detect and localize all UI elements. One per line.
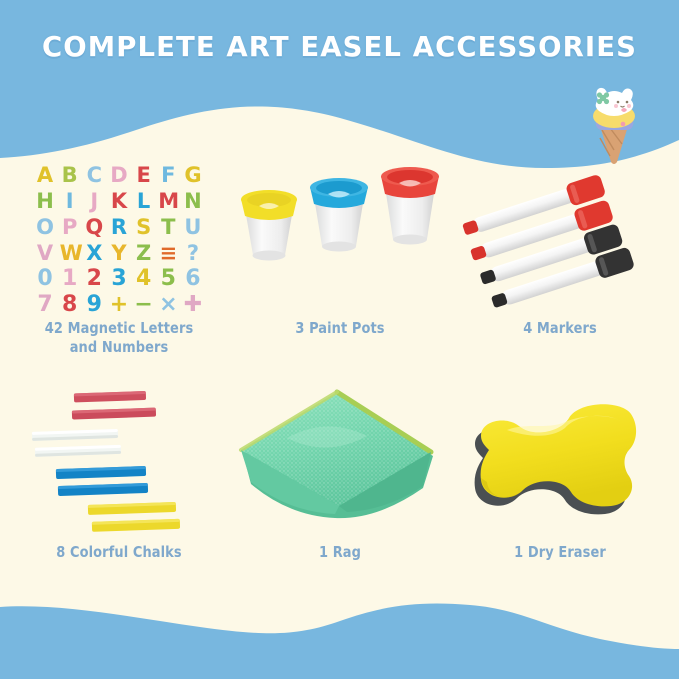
number-tile: 6 bbox=[183, 268, 203, 290]
markers-illustration bbox=[447, 154, 673, 319]
chalk-red-1 bbox=[74, 391, 146, 403]
multiply-tile: × bbox=[158, 294, 178, 316]
paint-pot-red bbox=[381, 167, 439, 245]
chalk-blue-1 bbox=[56, 466, 146, 479]
letter-tile: C bbox=[84, 164, 104, 186]
item-markers: 4 Markers bbox=[447, 154, 673, 338]
letter-tile: N bbox=[183, 190, 203, 212]
letters-grid: A B C D E F G H I J K L M bbox=[35, 162, 203, 318]
letters-row-2: H I J K L M N bbox=[35, 188, 203, 212]
minus-tile: − bbox=[134, 294, 154, 316]
caption-line-1: 3 Paint Pots bbox=[235, 319, 445, 338]
letters-row-6: 7 8 9 + − × ✚ bbox=[35, 292, 203, 316]
letter-tile: F bbox=[158, 164, 178, 186]
magnetic-letters-image: A B C D E F G H I J K L M bbox=[6, 154, 232, 319]
letter-tile: K bbox=[109, 190, 129, 212]
number-tile: 2 bbox=[84, 268, 104, 290]
items-grid: A B C D E F G H I J K L M bbox=[0, 150, 679, 610]
number-tile: 5 bbox=[158, 268, 178, 290]
item-caption: 42 Magnetic Letters and Numbers bbox=[14, 319, 224, 357]
letter-tile: Z bbox=[134, 242, 154, 264]
item-caption: 1 Rag bbox=[235, 543, 445, 562]
chalks-illustration bbox=[6, 378, 232, 543]
caption-line-2: and Numbers bbox=[14, 338, 224, 357]
letter-tile: W bbox=[60, 242, 80, 264]
number-tile: 0 bbox=[35, 268, 55, 290]
letters-row-3: O P Q R S T U bbox=[35, 214, 203, 238]
letters-row-1: A B C D E F G bbox=[35, 162, 203, 186]
item-caption: 3 Paint Pots bbox=[235, 319, 445, 338]
item-caption: 8 Colorful Chalks bbox=[14, 543, 224, 562]
caption-line-1: 8 Colorful Chalks bbox=[14, 543, 224, 562]
letter-tile: Y bbox=[109, 242, 129, 264]
paint-pots-illustration bbox=[227, 154, 453, 319]
number-tile: 3 bbox=[109, 268, 129, 290]
caption-line-1: 1 Dry Eraser bbox=[455, 543, 665, 562]
letter-tile: B bbox=[60, 164, 80, 186]
letter-tile: A bbox=[35, 164, 55, 186]
letters-row-5: 0 1 2 3 4 5 6 bbox=[35, 266, 203, 290]
dry-eraser-image bbox=[447, 378, 673, 543]
item-paint-pots: 3 Paint Pots bbox=[227, 154, 453, 338]
letter-tile: O bbox=[35, 216, 55, 238]
letter-tile: L bbox=[134, 190, 154, 212]
paint-pot-yellow bbox=[241, 190, 297, 261]
footer-band bbox=[0, 569, 679, 679]
chalk-white-1 bbox=[32, 429, 118, 441]
caption-line-1: 4 Markers bbox=[455, 319, 665, 338]
letter-tile: D bbox=[109, 164, 129, 186]
divide-tile: ✚ bbox=[183, 294, 203, 316]
number-tile: 8 bbox=[60, 294, 80, 316]
letter-tile: X bbox=[84, 242, 104, 264]
chalk-white-2 bbox=[35, 445, 121, 457]
chalk-red-2 bbox=[72, 408, 156, 420]
rag-image bbox=[227, 378, 453, 543]
letters-row-4: V W X Y Z ≡ ? bbox=[35, 240, 203, 264]
item-caption: 4 Markers bbox=[455, 319, 665, 338]
item-caption: 1 Dry Eraser bbox=[455, 543, 665, 562]
letter-tile: S bbox=[134, 216, 154, 238]
item-dry-eraser: 1 Dry Eraser bbox=[447, 378, 673, 562]
letter-tile: G bbox=[183, 164, 203, 186]
number-tile: 7 bbox=[35, 294, 55, 316]
page-title: COMPLETE ART EASEL ACCESSORIES bbox=[0, 31, 679, 63]
chalk-yellow-2 bbox=[92, 519, 180, 532]
letter-tile: E bbox=[134, 164, 154, 186]
letter-tile: H bbox=[35, 190, 55, 212]
rag-illustration bbox=[227, 378, 453, 543]
number-tile: 1 bbox=[60, 268, 80, 290]
chalk-yellow-1 bbox=[88, 502, 176, 515]
letter-tile: V bbox=[35, 242, 55, 264]
number-tile: 4 bbox=[134, 268, 154, 290]
item-rag: 1 Rag bbox=[227, 378, 453, 562]
markers-image bbox=[447, 154, 673, 319]
item-chalks: 8 Colorful Chalks bbox=[6, 378, 232, 562]
caption-line-1: 1 Rag bbox=[235, 543, 445, 562]
letter-tile: J bbox=[84, 190, 104, 212]
footer-wave-shape bbox=[0, 569, 679, 679]
number-tile: 9 bbox=[84, 294, 104, 316]
letter-tile: I bbox=[60, 190, 80, 212]
letter-tile: M bbox=[158, 190, 178, 212]
dry-eraser-illustration bbox=[447, 378, 673, 543]
letter-tile: R bbox=[109, 216, 129, 238]
chalk-blue-2 bbox=[58, 483, 148, 496]
product-infographic: COMPLETE ART EASEL ACCESSORIES bbox=[0, 0, 679, 679]
item-magnetic-letters: A B C D E F G H I J K L M bbox=[6, 154, 232, 357]
paint-pot-blue bbox=[310, 178, 368, 252]
paint-pots-image bbox=[227, 154, 453, 319]
letter-tile-equals: ≡ bbox=[158, 242, 178, 264]
letter-tile: T bbox=[158, 216, 178, 238]
header-band: COMPLETE ART EASEL ACCESSORIES bbox=[0, 0, 679, 175]
letter-tile: P bbox=[60, 216, 80, 238]
letter-tile-question: ? bbox=[183, 242, 203, 264]
chalks-image bbox=[6, 378, 232, 543]
letter-tile: Q bbox=[84, 216, 104, 238]
plus-tile: + bbox=[109, 294, 129, 316]
letter-tile: U bbox=[183, 216, 203, 238]
caption-line-1: 42 Magnetic Letters bbox=[14, 319, 224, 338]
